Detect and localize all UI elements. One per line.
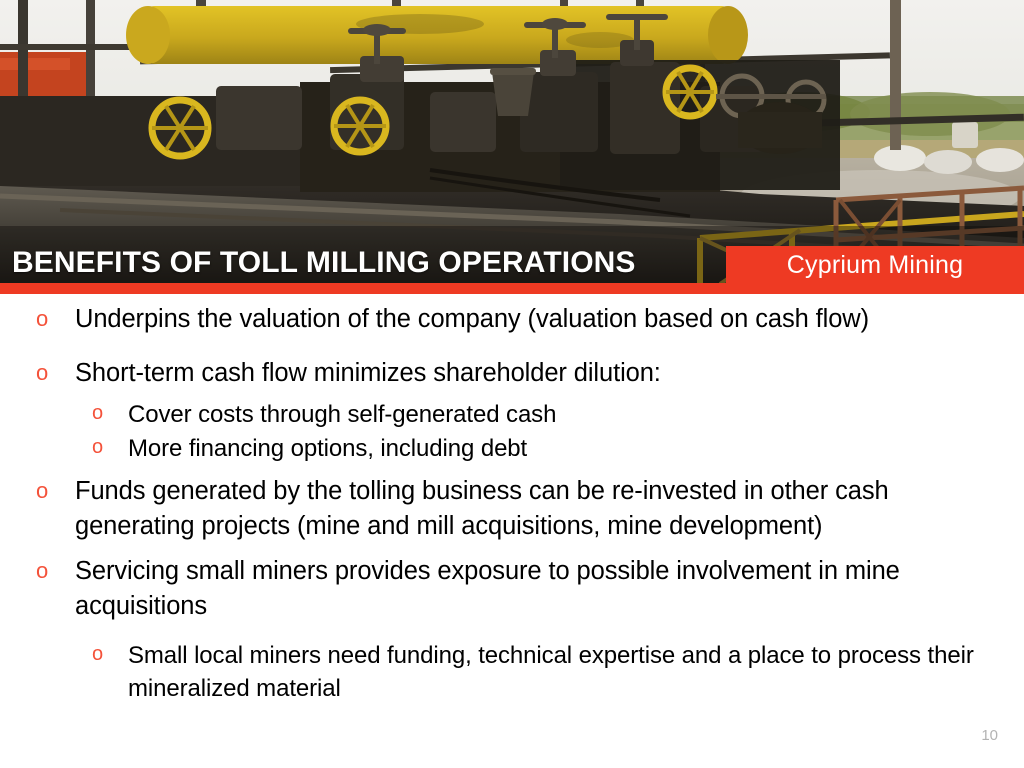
brand-logo-plate: Cyprium Mining xyxy=(726,246,1024,284)
bullet-marker-icon: o xyxy=(36,560,48,582)
bullet-marker-icon: o xyxy=(92,403,103,423)
list-item: o Underpins the valuation of the company… xyxy=(36,302,1002,337)
brand-name: Cyprium Mining xyxy=(726,246,1024,284)
list-item-text: Small local miners need funding, technic… xyxy=(128,639,992,705)
list-item: o Small local miners need funding, techn… xyxy=(92,639,992,705)
bullet-marker-icon: o xyxy=(36,362,48,384)
bullet-list: o Underpins the valuation of the company… xyxy=(0,294,1024,768)
bullet-marker-icon: o xyxy=(36,308,48,330)
list-item: o Funds generated by the tolling busines… xyxy=(36,474,1002,544)
header-photo-banner xyxy=(0,0,1024,284)
list-item: o Cover costs through self-generated cas… xyxy=(92,398,992,431)
list-item: o More financing options, including debt xyxy=(92,432,992,465)
list-item-text: Cover costs through self-generated cash xyxy=(128,398,992,431)
list-item: o Servicing small miners provides exposu… xyxy=(36,554,1002,624)
slide-canvas: BENEFITS OF TOLL MILLING OPERATIONS Cypr… xyxy=(0,0,1024,768)
accent-stripe xyxy=(0,283,1024,294)
list-item-text: Short-term cash flow minimizes sharehold… xyxy=(75,356,1002,391)
list-item-text: Servicing small miners provides exposure… xyxy=(75,554,1002,624)
bullet-marker-icon: o xyxy=(92,437,103,457)
list-item-text: Underpins the valuation of the company (… xyxy=(75,302,1002,337)
list-item-text: Funds generated by the tolling business … xyxy=(75,474,1002,544)
bullet-marker-icon: o xyxy=(36,480,48,502)
toll-milling-plant-photo xyxy=(0,0,1024,284)
bullet-marker-icon: o xyxy=(92,644,103,664)
page-number: 10 xyxy=(981,727,998,744)
list-item: o Short-term cash flow minimizes shareho… xyxy=(36,356,1002,391)
list-item-text: More financing options, including debt xyxy=(128,432,992,465)
